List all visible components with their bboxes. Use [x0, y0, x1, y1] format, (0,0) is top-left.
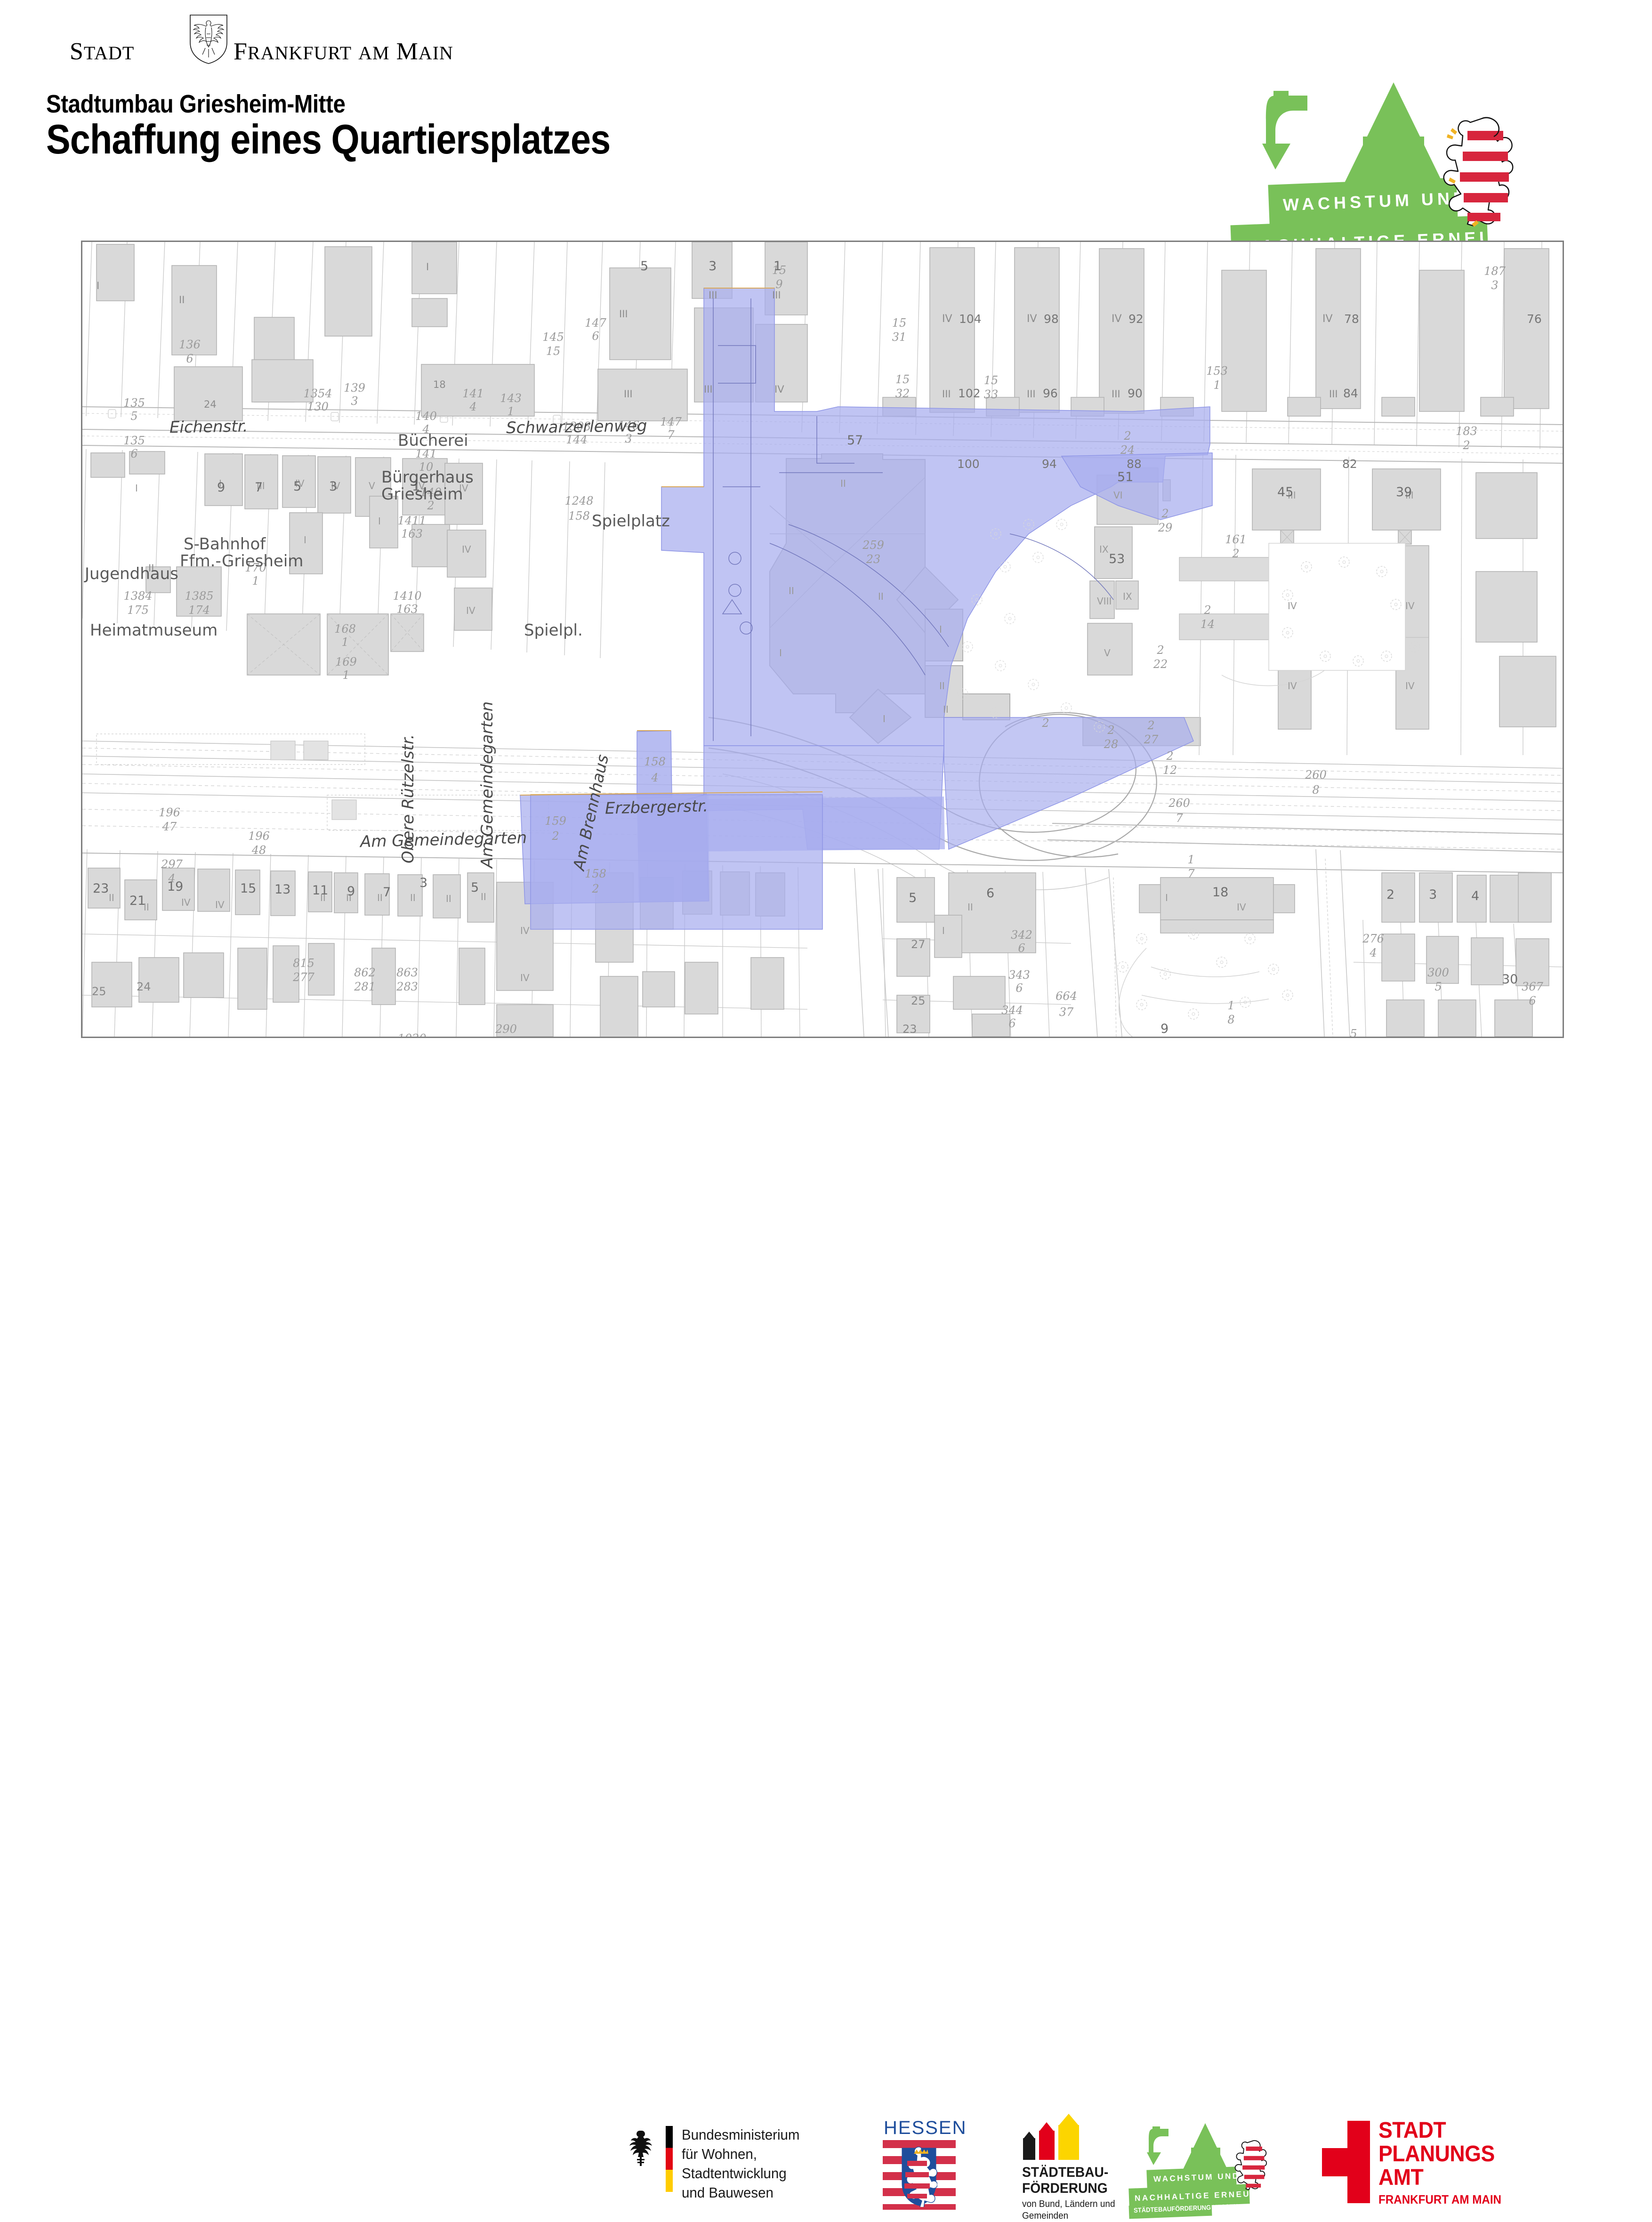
svg-text:139: 139	[344, 381, 365, 394]
cadastral-map[interactable]: III24 II I18 IIIIII IIIIII IIIIV IV IV I…	[81, 241, 1564, 1038]
page-footer: Bundesministerium für Wohnen, Stadtentwi…	[0, 1055, 1652, 1167]
svg-text:7: 7	[1176, 812, 1183, 825]
svg-text:IV: IV	[520, 925, 530, 936]
svg-text:96: 96	[1043, 386, 1058, 400]
svg-text:II: II	[179, 294, 185, 306]
house-red-icon	[1039, 2131, 1055, 2160]
svg-text:159: 159	[545, 814, 566, 828]
svg-text:I: I	[779, 647, 782, 659]
svg-text:IX: IX	[1099, 544, 1109, 555]
svg-text:15: 15	[546, 345, 561, 358]
svg-text:22: 22	[1153, 658, 1168, 671]
svg-text:2: 2	[591, 882, 599, 895]
svg-text:II: II	[377, 892, 383, 903]
svg-text:2: 2	[1156, 644, 1164, 657]
svg-text:863: 863	[396, 966, 418, 979]
stadtplanungsamt-title: STADT PLANUNGS AMT	[1378, 2119, 1495, 2190]
svg-text:163: 163	[396, 603, 418, 616]
map-canvas[interactable]: III24 II I18 IIIIII IIIIII IIIIV IV IV I…	[82, 242, 1563, 1037]
svg-text:II: II	[943, 704, 949, 715]
svg-text:23: 23	[866, 553, 881, 566]
svg-text:8: 8	[1312, 783, 1319, 797]
svg-text:9: 9	[347, 884, 355, 899]
svg-text:1410: 1410	[393, 589, 421, 603]
svg-text:23: 23	[903, 1022, 917, 1036]
recycle-arrow-icon	[1259, 87, 1351, 179]
svg-text:IV: IV	[1237, 902, 1246, 913]
svg-text:104: 104	[959, 312, 982, 326]
svg-text:II: II	[789, 585, 794, 596]
svg-text:153: 153	[1206, 364, 1228, 378]
svg-text:IV: IV	[1405, 680, 1415, 692]
svg-text:15: 15	[984, 374, 999, 387]
svg-text:168: 168	[334, 622, 356, 636]
svg-text:6: 6	[1529, 994, 1536, 1007]
svg-text:2: 2	[1386, 887, 1394, 902]
svg-text:281: 281	[354, 980, 376, 993]
svg-text:15: 15	[240, 881, 256, 896]
svg-text:IV: IV	[942, 313, 952, 325]
bmwsb-text: Bundesministerium für Wohnen, Stadtentwi…	[682, 2125, 862, 2202]
svg-text:664: 664	[1056, 990, 1077, 1003]
svg-text:28: 28	[1104, 738, 1119, 751]
city-logo-word-stadt: STADT	[70, 38, 134, 65]
svg-text:I: I	[426, 261, 429, 273]
svg-text:I: I	[304, 534, 306, 546]
bmwsb-line-2: für Wohnen, Stadtentwicklung	[682, 2144, 862, 2183]
svg-text:15: 15	[892, 316, 907, 330]
svg-text:51: 51	[1117, 470, 1133, 484]
svg-text:147: 147	[585, 316, 607, 330]
svg-text:30: 30	[1502, 972, 1518, 987]
svg-text:3: 3	[351, 394, 358, 408]
svg-text:7: 7	[383, 885, 391, 900]
svg-text:II: II	[967, 902, 973, 913]
svg-text:IV: IV	[459, 483, 468, 494]
svg-text:II: II	[446, 893, 451, 904]
svg-text:37: 37	[1059, 1006, 1074, 1019]
svg-text:IV: IV	[1288, 680, 1297, 692]
svg-text:1: 1	[252, 574, 259, 588]
svg-text:1411: 1411	[397, 514, 426, 527]
svg-text:18: 18	[433, 379, 446, 390]
svg-text:II: II	[481, 891, 486, 902]
svg-text:2: 2	[1147, 719, 1154, 732]
svg-text:IV: IV	[1112, 313, 1122, 325]
svg-text:V: V	[1104, 647, 1111, 659]
svg-text:V: V	[369, 480, 375, 491]
svg-text:24: 24	[137, 980, 151, 993]
svg-text:158: 158	[644, 755, 666, 768]
svg-text:IV: IV	[181, 897, 191, 908]
staedtebau-line-1: STÄDTEBAU-	[1022, 2165, 1108, 2181]
svg-text:3: 3	[709, 259, 717, 274]
svg-text:24: 24	[1120, 443, 1135, 457]
svg-text:2: 2	[1166, 749, 1173, 763]
svg-text:1: 1	[1187, 853, 1194, 866]
svg-text:9: 9	[217, 480, 225, 495]
svg-text:158: 158	[568, 509, 590, 523]
svg-text:IV: IV	[1027, 313, 1037, 325]
svg-text:4: 4	[1471, 889, 1479, 903]
svg-text:IV: IV	[466, 605, 475, 616]
svg-text:III: III	[624, 388, 633, 400]
svg-text:9: 9	[775, 278, 782, 291]
svg-text:II: II	[939, 680, 945, 692]
svg-text:2: 2	[1462, 439, 1470, 452]
svg-text:33: 33	[984, 388, 999, 401]
svg-text:III: III	[619, 308, 628, 320]
svg-text:7: 7	[1187, 867, 1195, 880]
svg-text:862: 862	[354, 966, 376, 979]
svg-text:135: 135	[123, 434, 145, 447]
svg-text:98: 98	[1044, 312, 1059, 326]
svg-text:IV: IV	[1405, 600, 1415, 612]
bmwsb-line-3: und Bauwesen	[682, 2183, 862, 2202]
svg-text:II: II	[840, 478, 846, 489]
svg-text:27: 27	[1144, 733, 1159, 746]
bundesadler-icon	[626, 2129, 657, 2167]
svg-text:I: I	[378, 515, 381, 527]
svg-text:45: 45	[1277, 485, 1293, 499]
svg-text:IV: IV	[1288, 600, 1297, 612]
bmwsb-line-1: Bundesministerium	[682, 2125, 862, 2144]
svg-text:I: I	[1165, 892, 1168, 903]
svg-text:196: 196	[248, 829, 270, 843]
svg-text:I: I	[135, 483, 138, 494]
svg-text:1385: 1385	[185, 589, 213, 603]
svg-text:102: 102	[958, 386, 981, 400]
svg-text:196: 196	[159, 806, 180, 819]
svg-text:11: 11	[312, 883, 328, 898]
spa-line-2: PLANUNGS	[1378, 2142, 1495, 2166]
spa-sub: FRANKFURT AM MAIN	[1378, 2192, 1501, 2207]
svg-text:13: 13	[274, 882, 290, 897]
svg-text:141: 141	[415, 447, 437, 460]
svg-text:III: III	[709, 290, 717, 301]
svg-text:IX: IX	[1123, 591, 1132, 602]
svg-text:158: 158	[585, 867, 606, 880]
svg-text:2: 2	[551, 829, 559, 843]
svg-text:5: 5	[293, 479, 301, 494]
svg-text:147: 147	[660, 415, 682, 428]
svg-text:1: 1	[1213, 378, 1220, 392]
svg-text:1: 1	[774, 259, 782, 274]
svg-text:4: 4	[469, 400, 476, 413]
svg-text:1354: 1354	[303, 387, 332, 400]
svg-text:342: 342	[1011, 928, 1032, 942]
svg-text:15: 15	[895, 373, 910, 386]
house-red-roof-icon	[1039, 2122, 1054, 2132]
stadtplanungsamt-mark-icon	[1314, 2121, 1389, 2203]
svg-text:344: 344	[1001, 1004, 1023, 1017]
svg-text:145: 145	[542, 330, 564, 344]
svg-text:187: 187	[1484, 265, 1506, 278]
svg-text:4: 4	[1369, 946, 1377, 959]
svg-text:141: 141	[462, 387, 484, 400]
svg-text:4: 4	[422, 423, 429, 436]
svg-text:146: 146	[618, 419, 639, 432]
svg-text:259: 259	[862, 539, 884, 552]
svg-text:2: 2	[1041, 717, 1049, 730]
house-yellow-icon	[1058, 2125, 1079, 2160]
hessen-label: HESSEN	[884, 2117, 967, 2139]
svg-text:2: 2	[1203, 604, 1211, 617]
svg-text:47: 47	[162, 820, 177, 833]
page-header: STADT FRANKFURT AM MAIN Stadtumbau Gries…	[0, 0, 1652, 235]
svg-text:7: 7	[255, 480, 263, 495]
staedtebau-sub-1: von Bund, Ländern und	[1022, 2198, 1115, 2210]
city-logo-word-frankfurt: FRANKFURT AM MAIN	[234, 38, 453, 65]
stadtplanungsamt-logo: STADT PLANUNGS AMT FRANKFURT AM MAIN	[1314, 2121, 1605, 2210]
svg-text:II: II	[148, 563, 154, 574]
svg-text:3: 3	[329, 479, 337, 494]
svg-text:IV: IV	[774, 384, 784, 395]
svg-text:5: 5	[909, 891, 917, 905]
svg-text:25: 25	[911, 994, 926, 1007]
svg-text:170: 170	[245, 561, 266, 574]
svg-text:5: 5	[1434, 980, 1442, 993]
svg-text:I: I	[942, 925, 945, 936]
svg-text:1: 1	[341, 636, 348, 649]
bmwsb-logo: Bundesministerium für Wohnen, Stadtentwi…	[626, 2122, 871, 2198]
svg-text:8: 8	[1227, 1013, 1234, 1026]
svg-text:300: 300	[1427, 966, 1449, 979]
page-title: Schaffung eines Quartiersplatzes	[46, 115, 610, 163]
svg-text:7: 7	[667, 428, 675, 442]
svg-text:1: 1	[1227, 999, 1234, 1012]
svg-text:57: 57	[847, 433, 863, 448]
frankfurt-eagle-crest-icon	[187, 13, 230, 65]
svg-text:12: 12	[1163, 764, 1177, 777]
svg-text:161: 161	[1225, 533, 1247, 546]
svg-text:2: 2	[1161, 507, 1168, 520]
svg-text:25: 25	[92, 985, 106, 998]
svg-text:94: 94	[1042, 457, 1057, 471]
svg-text:VI: VI	[1113, 490, 1123, 501]
svg-text:39: 39	[1396, 485, 1412, 499]
svg-text:III: III	[1112, 388, 1120, 400]
city-of-frankfurt-logo: STADT FRANKFURT AM MAIN	[70, 23, 371, 65]
svg-text:276: 276	[1362, 932, 1384, 945]
svg-text:III: III	[772, 290, 781, 301]
svg-text:53: 53	[1109, 552, 1125, 566]
svg-text:I: I	[97, 280, 99, 291]
svg-text:II: II	[878, 591, 884, 602]
spa-line-3: AMT	[1378, 2166, 1495, 2190]
svg-text:29: 29	[1158, 521, 1173, 534]
svg-text:163: 163	[401, 527, 423, 540]
svg-text:6: 6	[186, 352, 193, 365]
house-black-icon	[1023, 2138, 1035, 2160]
svg-text:169: 169	[335, 655, 357, 668]
hessen-lion-icon	[1438, 108, 1521, 231]
svg-text:IV: IV	[1322, 313, 1333, 325]
svg-text:1248: 1248	[564, 494, 593, 507]
svg-text:2: 2	[1123, 429, 1131, 443]
svg-text:136: 136	[179, 338, 201, 351]
svg-text:260: 260	[1305, 768, 1327, 781]
svg-text:IV: IV	[462, 544, 471, 555]
svg-text:I: I	[883, 713, 886, 725]
svg-text:IV: IV	[215, 899, 225, 910]
svg-text:6: 6	[592, 330, 599, 343]
program-logo-small: WACHSTUM UND NACHHALTIGE ERNEUERUNG STÄD…	[1139, 2123, 1276, 2203]
svg-text:18: 18	[1212, 885, 1228, 900]
svg-text:3: 3	[625, 432, 632, 445]
house-yellow-roof-icon	[1058, 2114, 1079, 2126]
svg-text:3: 3	[1429, 887, 1437, 902]
staedtebau-line-2: FÖRDERUNG	[1022, 2181, 1108, 2197]
svg-text:5: 5	[130, 410, 137, 423]
svg-text:2: 2	[1232, 547, 1239, 560]
svg-text:343: 343	[1008, 968, 1030, 982]
svg-text:367: 367	[1522, 980, 1544, 993]
spa-line-1: STADT	[1378, 2119, 1495, 2142]
svg-text:32: 32	[895, 387, 910, 400]
svg-text:III: III	[942, 388, 951, 400]
svg-text:1303: 1303	[562, 420, 591, 433]
svg-text:5: 5	[640, 259, 648, 274]
svg-text:260: 260	[1168, 797, 1190, 810]
svg-text:130: 130	[307, 400, 329, 413]
svg-text:88: 88	[1127, 457, 1142, 471]
svg-text:14: 14	[1201, 618, 1215, 631]
svg-text:1020: 1020	[397, 1032, 426, 1037]
svg-text:1: 1	[342, 668, 349, 682]
svg-text:2: 2	[1107, 724, 1114, 737]
german-flag-bar	[666, 2126, 673, 2192]
svg-text:135: 135	[123, 396, 145, 410]
hessen-logo: HESSEN	[883, 2117, 972, 2212]
svg-text:4: 4	[651, 771, 658, 784]
hessen-lion-icon-small	[1233, 2136, 1270, 2192]
svg-text:175: 175	[127, 604, 149, 617]
svg-text:815: 815	[293, 957, 314, 970]
svg-text:3: 3	[419, 876, 427, 890]
svg-text:183: 183	[1456, 425, 1477, 438]
svg-text:5: 5	[1350, 1027, 1357, 1037]
svg-text:290: 290	[495, 1022, 517, 1036]
project-subtitle: Stadtumbau Griesheim-Mitte	[46, 89, 345, 119]
svg-text:143: 143	[500, 392, 522, 405]
svg-text:1384: 1384	[123, 589, 152, 603]
svg-text:92: 92	[1128, 312, 1144, 326]
svg-text:1: 1	[507, 405, 514, 418]
svg-text:297: 297	[161, 858, 183, 871]
svg-text:III: III	[1027, 388, 1036, 400]
svg-text:27: 27	[911, 938, 926, 951]
svg-text:100: 100	[957, 457, 980, 471]
svg-text:10: 10	[419, 460, 434, 474]
svg-text:II: II	[410, 892, 416, 903]
svg-text:21: 21	[129, 894, 145, 908]
svg-text:II: II	[109, 892, 114, 903]
svg-text:1: 1	[412, 479, 420, 494]
svg-text:IV: IV	[520, 972, 530, 983]
svg-text:84: 84	[1343, 386, 1358, 400]
svg-text:9: 9	[1160, 1022, 1168, 1036]
svg-text:23: 23	[93, 881, 109, 896]
svg-text:174: 174	[188, 604, 210, 617]
svg-text:6: 6	[986, 886, 994, 901]
svg-text:5: 5	[471, 880, 479, 895]
svg-text:144: 144	[566, 433, 588, 446]
svg-text:3: 3	[1491, 279, 1498, 292]
svg-text:277: 277	[292, 971, 315, 984]
svg-text:VIII: VIII	[1097, 596, 1112, 607]
svg-text:19: 19	[167, 879, 183, 894]
svg-text:III: III	[704, 384, 713, 395]
svg-text:III: III	[1329, 388, 1338, 400]
staedtebau-title: STÄDTEBAU- FÖRDERUNG	[1022, 2165, 1108, 2197]
svg-text:24: 24	[204, 399, 217, 410]
svg-text:78: 78	[1344, 312, 1359, 326]
svg-text:6: 6	[1008, 1017, 1015, 1030]
svg-text:I: I	[939, 624, 942, 635]
svg-text:6: 6	[130, 447, 137, 460]
svg-text:6: 6	[1015, 982, 1023, 995]
svg-text:48: 48	[251, 844, 266, 857]
svg-text:283: 283	[396, 980, 418, 993]
svg-text:31: 31	[892, 330, 907, 344]
svg-text:140: 140	[415, 410, 437, 423]
svg-text:90: 90	[1128, 386, 1143, 400]
svg-text:2: 2	[427, 499, 434, 512]
svg-text:76: 76	[1527, 312, 1542, 326]
svg-text:6: 6	[1018, 942, 1025, 955]
staedtebau-sub: von Bund, Ländern und Gemeinden	[1022, 2198, 1115, 2222]
staedtebau-sub-2: Gemeinden	[1022, 2210, 1115, 2222]
hessen-coat-of-arms-icon	[901, 2147, 937, 2207]
svg-text:82: 82	[1342, 457, 1357, 471]
